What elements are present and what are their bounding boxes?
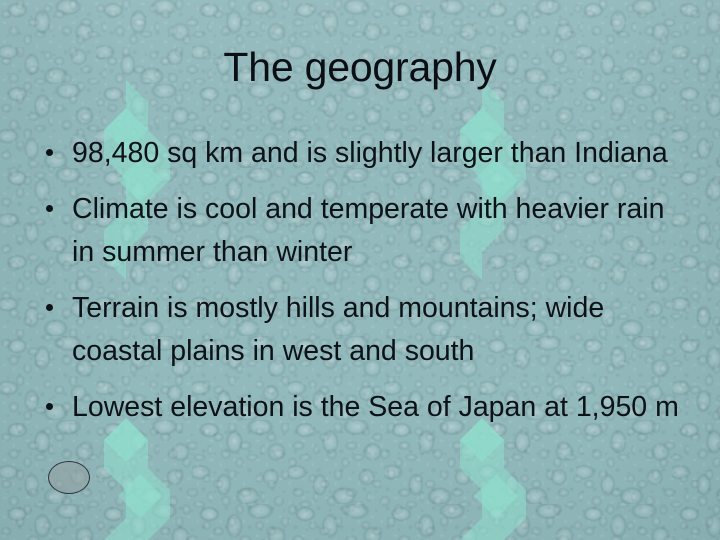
bullet-text-4: Lowest elevation is the Sea of Japan at …	[72, 386, 684, 429]
bullet-marker-icon	[46, 304, 53, 311]
bullet-marker-icon	[46, 205, 53, 212]
oval-placeholder-shape	[48, 461, 90, 494]
bullet-text-3: Terrain is mostly hills and mountains; w…	[72, 287, 684, 373]
bullet-item-2: Climate is cool and temperate with heavi…	[36, 188, 684, 274]
bullet-item-4: Lowest elevation is the Sea of Japan at …	[36, 386, 684, 429]
ribbon-decoration-bottom-right-icon	[452, 418, 526, 540]
slide-title: The geography	[0, 44, 720, 90]
ribbon-decoration-bottom-left-icon	[96, 418, 170, 540]
bullet-item-3: Terrain is mostly hills and mountains; w…	[36, 287, 684, 373]
slide-canvas: The geography 98,480 sq km and is slight…	[0, 0, 720, 540]
bullet-text-2: Climate is cool and temperate with heavi…	[72, 188, 684, 274]
slide-body: 98,480 sq km and is slightly larger than…	[36, 132, 684, 429]
bullet-item-1: 98,480 sq km and is slightly larger than…	[36, 132, 684, 175]
bullet-text-1: 98,480 sq km and is slightly larger than…	[72, 132, 684, 175]
bullet-marker-icon	[46, 149, 53, 156]
bullet-marker-icon	[46, 403, 53, 410]
